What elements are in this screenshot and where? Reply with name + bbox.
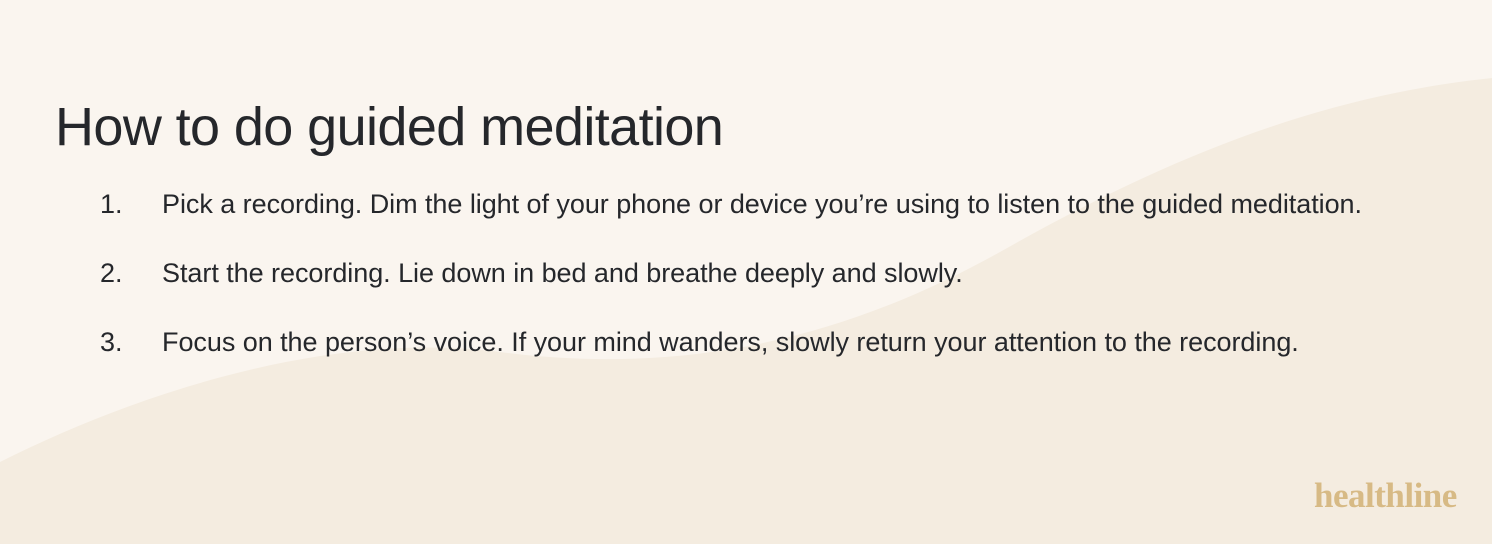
- list-item-marker: 3.: [95, 317, 162, 368]
- list-item-text: Start the recording. Lie down in bed and…: [162, 248, 1458, 299]
- list-item-text: Focus on the person’s voice. If your min…: [162, 317, 1458, 368]
- list-item: 2. Start the recording. Lie down in bed …: [95, 248, 1475, 299]
- list-item-text: Pick a recording. Dim the light of your …: [162, 179, 1458, 230]
- infographic-card: How to do guided meditation 1. Pick a re…: [0, 0, 1492, 544]
- list-item: 3. Focus on the person’s voice. If your …: [95, 317, 1475, 368]
- steps-list: 1. Pick a recording. Dim the light of yo…: [55, 179, 1475, 368]
- list-item-marker: 2.: [95, 248, 162, 299]
- list-item-marker: 1.: [95, 179, 162, 230]
- list-item: 1. Pick a recording. Dim the light of yo…: [95, 179, 1475, 230]
- page-title: How to do guided meditation: [55, 99, 723, 156]
- healthline-logo: healthline: [1314, 478, 1457, 513]
